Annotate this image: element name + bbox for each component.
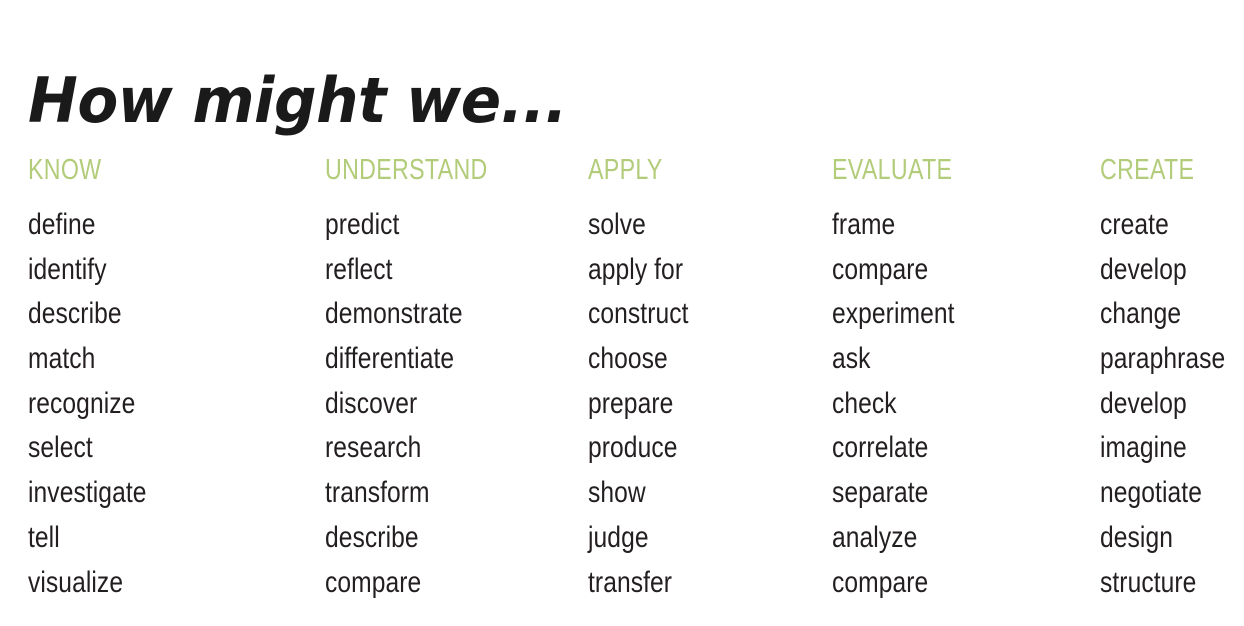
column-create: CREATE create develop change paraphrase … [1100, 155, 1244, 605]
column-header-evaluate: EVALUATE [832, 155, 1040, 185]
word-item[interactable]: correlate [832, 426, 1045, 471]
word-item[interactable]: apply for [588, 248, 781, 293]
word-item[interactable]: visualize [28, 561, 266, 606]
word-item[interactable]: discover [325, 382, 534, 427]
word-item[interactable]: transform [325, 471, 534, 516]
word-item[interactable]: structure [1100, 561, 1239, 606]
column-know: KNOW define identify describe match reco… [28, 155, 318, 605]
word-item[interactable]: change [1100, 292, 1239, 337]
word-list-apply: solve apply for construct choose prepare… [588, 203, 823, 605]
word-item[interactable]: design [1100, 516, 1239, 561]
column-evaluate: EVALUATE frame compare experiment ask ch… [832, 155, 1092, 605]
word-list-evaluate: frame compare experiment ask check corre… [832, 203, 1092, 605]
word-item[interactable]: compare [325, 561, 534, 606]
word-item[interactable]: tell [28, 516, 266, 561]
word-item[interactable]: describe [325, 516, 534, 561]
word-item[interactable]: identify [28, 248, 266, 293]
word-item[interactable]: negotiate [1100, 471, 1239, 516]
word-item[interactable]: develop [1100, 248, 1239, 293]
word-item[interactable]: demonstrate [325, 292, 534, 337]
column-understand: UNDERSTAND predict reflect demonstrate d… [325, 155, 580, 605]
word-item[interactable]: construct [588, 292, 781, 337]
word-item[interactable]: paraphrase [1100, 337, 1239, 382]
word-item[interactable]: show [588, 471, 781, 516]
column-header-know: KNOW [28, 155, 260, 185]
how-might-we-poster: How might we... KNOW define identify des… [0, 0, 1244, 626]
word-item[interactable]: produce [588, 426, 781, 471]
word-item[interactable]: choose [588, 337, 781, 382]
word-item[interactable]: ask [832, 337, 1045, 382]
word-item[interactable]: investigate [28, 471, 266, 516]
word-item[interactable]: reflect [325, 248, 534, 293]
word-item[interactable]: predict [325, 203, 534, 248]
word-item[interactable]: select [28, 426, 266, 471]
word-item[interactable]: develop [1100, 382, 1239, 427]
word-list-know: define identify describe match recognize… [28, 203, 318, 605]
word-item[interactable]: define [28, 203, 266, 248]
word-item[interactable]: research [325, 426, 534, 471]
page-title: How might we... [28, 64, 567, 138]
word-item[interactable]: recognize [28, 382, 266, 427]
column-header-create: CREATE [1100, 155, 1236, 185]
word-item[interactable]: match [28, 337, 266, 382]
word-item[interactable]: analyze [832, 516, 1045, 561]
word-item[interactable]: transfer [588, 561, 781, 606]
word-item[interactable]: solve [588, 203, 781, 248]
word-item[interactable]: imagine [1100, 426, 1239, 471]
word-item[interactable]: experiment [832, 292, 1045, 337]
word-item[interactable]: compare [832, 248, 1045, 293]
word-item[interactable]: frame [832, 203, 1045, 248]
column-apply: APPLY solve apply for construct choose p… [588, 155, 823, 605]
word-item[interactable]: create [1100, 203, 1239, 248]
word-list-create: create develop change paraphrase develop… [1100, 203, 1244, 605]
word-item[interactable]: compare [832, 561, 1045, 606]
word-item[interactable]: check [832, 382, 1045, 427]
word-item[interactable]: prepare [588, 382, 781, 427]
column-header-apply: APPLY [588, 155, 776, 185]
word-list-understand: predict reflect demonstrate differentiat… [325, 203, 580, 605]
column-header-understand: UNDERSTAND [325, 155, 529, 185]
word-item[interactable]: describe [28, 292, 266, 337]
verb-columns: KNOW define identify describe match reco… [0, 155, 1244, 615]
word-item[interactable]: differentiate [325, 337, 534, 382]
word-item[interactable]: separate [832, 471, 1045, 516]
word-item[interactable]: judge [588, 516, 781, 561]
